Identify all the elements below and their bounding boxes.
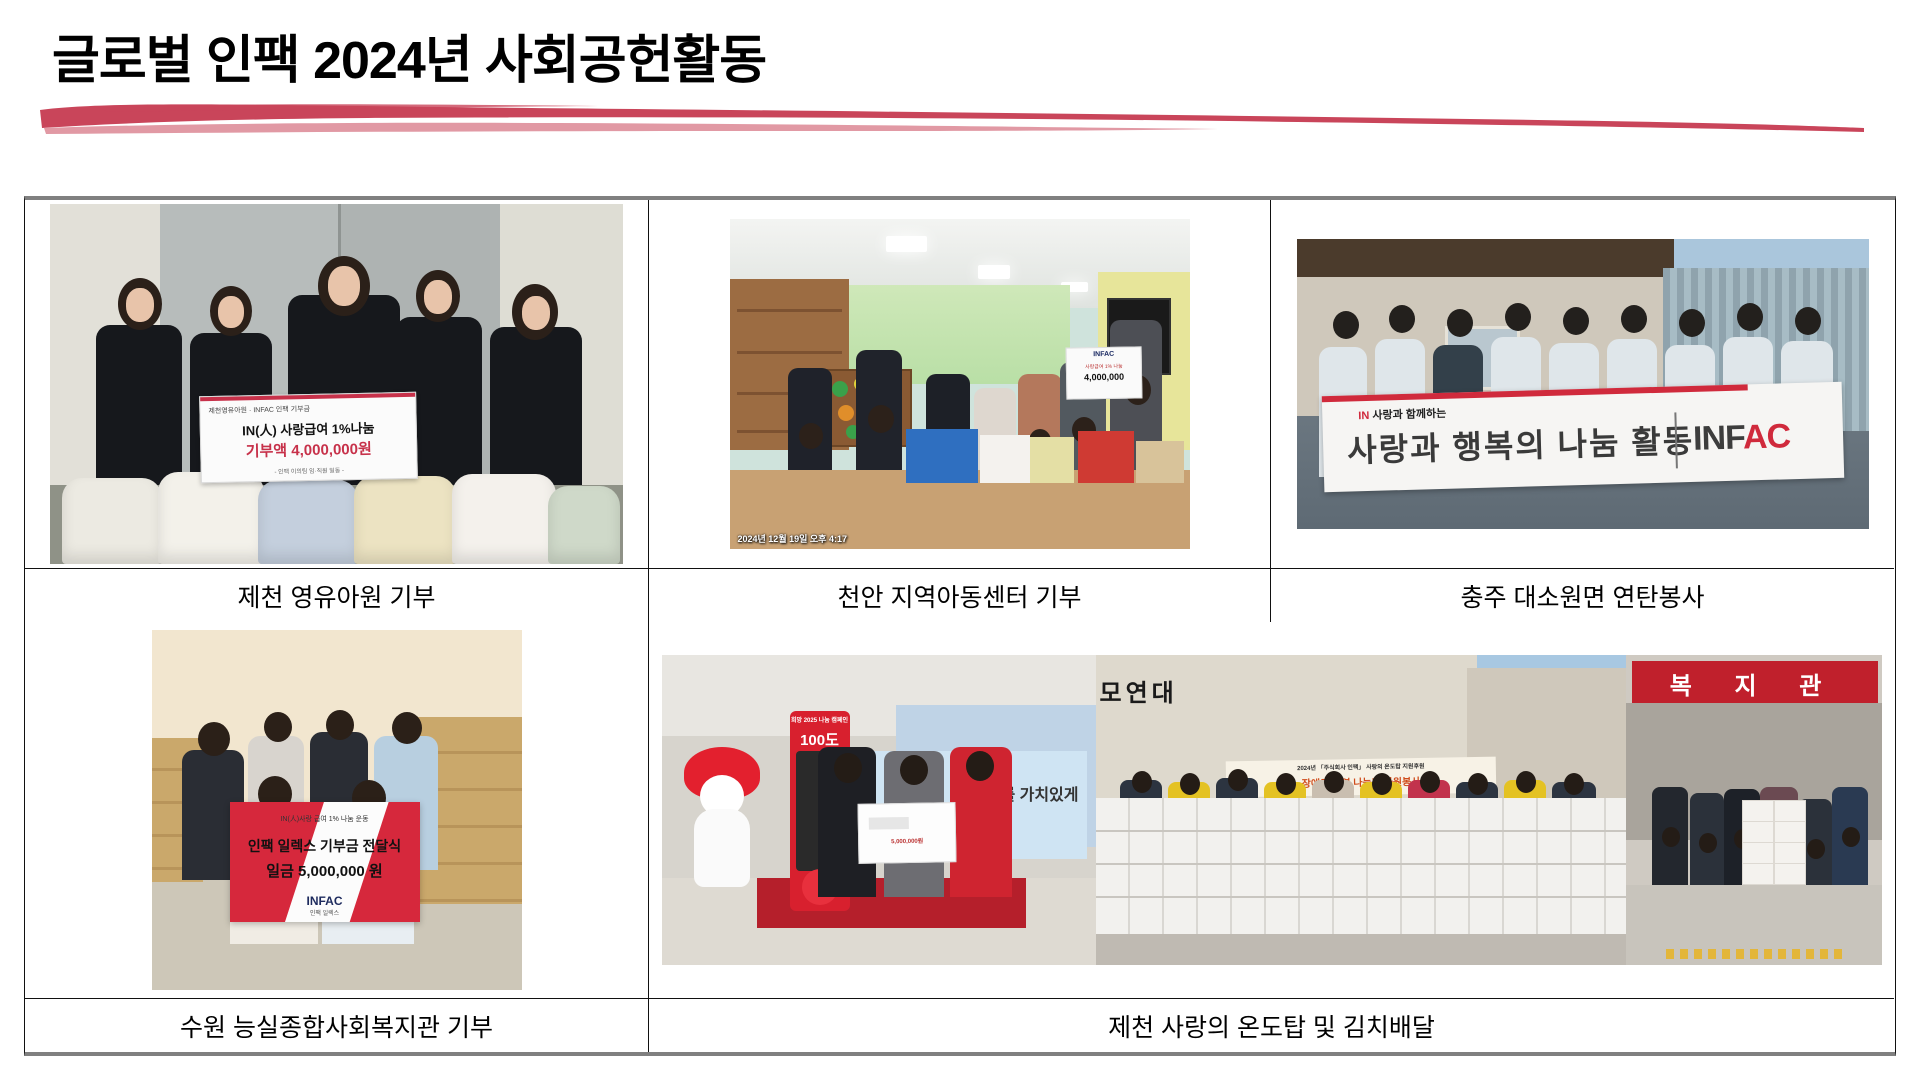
giant-check: 5,000,000원 (857, 802, 956, 864)
caption-row-2: 수원 능실종합사회복지관 기부 제천 사랑의 온도탑 및 김치배달 (25, 998, 1895, 1052)
caption-chungju-briquette: 충주 대소원면 연탄봉사 (1271, 568, 1894, 622)
caption-jecheon-infant-home: 제천 영유아원 기부 (25, 568, 649, 622)
volunteer-banner: IN 사랑과 함께하는 사랑과 행복의 나눔 활동 INFAC (1321, 382, 1843, 492)
tower-campaign-label: 희망 2025 나눔 캠페인 (790, 715, 850, 724)
photo-timestamp: 2024년 12월 19일 오후 4:17 (738, 532, 847, 545)
donation-sign-board: 제천영유아원 · INFAC 인팩 기부금 IN(人) 사랑급여 1%나눔 기부… (199, 392, 418, 484)
donation-placard: INFAC 사랑급여 1% 나눔 4,000,000 (1065, 346, 1142, 399)
caption-row-1: 제천 영유아원 기부 천안 지역아동센터 기부 충주 대소원면 연탄봉사 (25, 568, 1895, 622)
banner-top-line: IN 사랑과 함께하는 (1358, 405, 1446, 423)
cheonan-community-child-center-donation-photo: INFAC 사랑급여 1% 나눔 4,000,000 2024년 12월 19일… (730, 219, 1190, 549)
jecheon-infant-home-donation-photo: 제천영유아원 · INFAC 인팩 기부금 IN(人) 사랑급여 1%나눔 기부… (50, 204, 623, 564)
placard-brand: INFAC (1066, 350, 1140, 358)
sign-title: 인팩 일렉스 기부금 전달식 (230, 836, 420, 856)
banner-brand: INFAC (1692, 417, 1790, 459)
sign-org-line: 제천영유아원 · INFAC 인팩 기부금 (208, 404, 310, 416)
welfare-center-sign: 복 지 관 (1632, 661, 1878, 703)
banner-top-text: 사랑과 함께하는 (1372, 408, 1446, 422)
slide-root: 글로벌 인팩 2024년 사회공헌활동 (0, 0, 1920, 1080)
sign-top-line: IN(人)사랑 급여 1% 나눔 운동 (230, 814, 420, 824)
check-amount: 5,000,000원 (859, 835, 955, 846)
grid-cell-jecheon-infant-home: 제천영유아원 · INFAC 인팩 기부금 IN(人) 사랑급여 1%나눔 기부… (25, 200, 649, 568)
caption-suwon-neungsil: 수원 능실종합사회복지관 기부 (25, 998, 649, 1052)
caption-jecheon-kimchi: 제천 사랑의 온도탑 및 김치배달 (649, 998, 1894, 1052)
red-brush-stroke-divider (38, 98, 1868, 138)
jecheon-love-thermometer-and-kimchi-delivery-photo: 희망 2025 나눔 캠페인 100도 나를 가치있게 (662, 655, 1882, 965)
sign-brand: INFAC (230, 894, 420, 908)
brand-right: AC (1742, 417, 1790, 456)
banner-main-line: 사랑과 행복의 나눔 활동 (1346, 416, 1694, 472)
suwon-neungsil-welfare-center-donation-photo: IN(人)사랑 급여 1% 나눔 운동 인팩 일렉스 기부금 전달식 일금 5,… (152, 630, 522, 990)
placard-subtitle: 사랑급여 1% 나눔 (1066, 362, 1140, 370)
photo-row-1: 제천영유아원 · INFAC 인팩 기부금 IN(人) 사랑급여 1%나눔 기부… (25, 200, 1895, 568)
chungju-daesowon-briquette-volunteer-photo: IN 사랑과 함께하는 사랑과 행복의 나눔 활동 INFAC (1297, 239, 1869, 529)
kimchi-box-stack (1096, 798, 1626, 934)
page-title: 글로벌 인팩 2024년 사회공헌활동 (52, 18, 766, 93)
grid-cell-suwon-neungsil: IN(人)사랑 급여 1% 나눔 운동 인팩 일렉스 기부금 전달식 일금 5,… (25, 622, 649, 998)
placard-amount: 4,000,000 (1066, 371, 1140, 382)
brand-left: INF (1692, 419, 1743, 458)
sign-line-2: 기부액 4,000,000원 (201, 437, 416, 462)
sign-amount: 일금 5,000,000 원 (230, 860, 420, 881)
activity-photo-grid: 제천영유아원 · INFAC 인팩 기부금 IN(人) 사랑급여 1%나눔 기부… (24, 196, 1896, 1056)
grid-cell-cheonan-child-center: INFAC 사랑급여 1% 나눔 4,000,000 2024년 12월 19일… (649, 200, 1271, 568)
building-sign: 모연대 (1100, 673, 1178, 708)
love-thermometer-ceremony-photo: 희망 2025 나눔 캠페인 100도 나를 가치있게 (662, 655, 1096, 965)
welfare-center-sign-text: 복 지 관 (1632, 666, 1878, 701)
welfare-center-kimchi-delivery-photo: 복 지 관 (1626, 655, 1882, 965)
kimchi-boxes-group-photo: 모연대 2024년 「주식회사 인팩」 사랑의 온도탑 지원후원 장애인 지역 … (1096, 655, 1626, 965)
banner-in-prefix: IN (1358, 410, 1369, 422)
grid-cell-jecheon-kimchi: 희망 2025 나눔 캠페인 100도 나를 가치있게 (649, 622, 1894, 998)
photo-row-2: IN(人)사랑 급여 1% 나눔 운동 인팩 일렉스 기부금 전달식 일금 5,… (25, 622, 1895, 998)
caption-cheonan-child-center: 천안 지역아동센터 기부 (649, 568, 1271, 622)
donation-ceremony-sign: IN(人)사랑 급여 1% 나눔 운동 인팩 일렉스 기부금 전달식 일금 5,… (230, 802, 420, 922)
sign-footer: - 인팩 이의팀 임·직원 일동 - (202, 464, 417, 478)
sign-brand-sub: 인팩 일렉스 (230, 908, 420, 917)
charity-mascot (684, 747, 760, 897)
grid-cell-chungju-briquette: IN 사랑과 함께하는 사랑과 행복의 나눔 활동 INFAC (1271, 200, 1894, 568)
